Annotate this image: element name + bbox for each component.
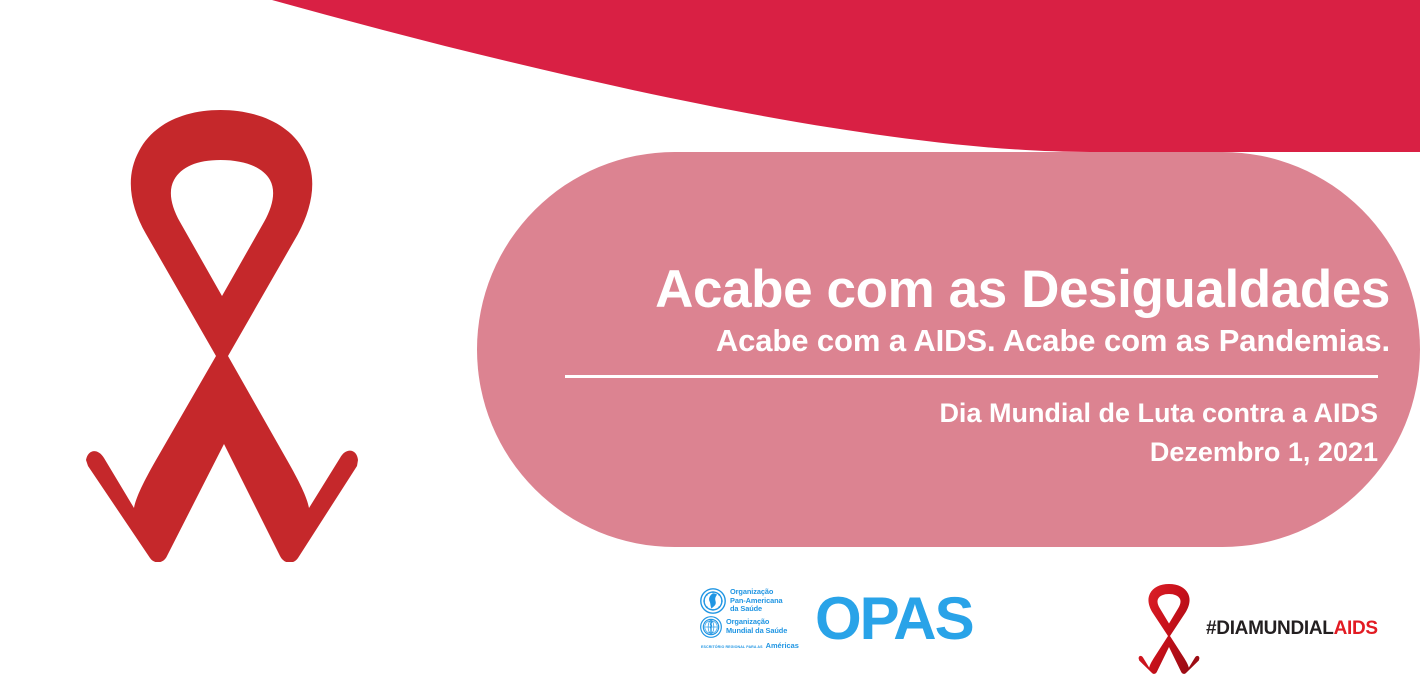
hashtag-text-red: AIDS [1334,618,1378,639]
event-date-text: Dezembro 1, 2021 [500,435,1390,470]
opas-americas-row: ESCRITÓRIO REGIONAL PARA AS Américas [701,641,806,650]
who-emblem-line-2: Mundial da Saúde [726,627,787,636]
ribbon-path [86,110,358,562]
hashtag-ribbon-path [1139,584,1200,674]
paho-globe-seal-icon [700,588,726,614]
opas-americas-label: Américas [766,641,799,650]
world-aids-day-banner: Acabe com as Desigualdades Acabe com a A… [0,0,1420,684]
page-title: Acabe com as Desigualdades [500,262,1390,317]
event-name-text: Dia Mundial de Luta contra a AIDS [500,396,1390,431]
opas-americas-prefix: ESCRITÓRIO REGIONAL PARA AS [701,645,763,649]
aids-awareness-ribbon-small-icon [1138,580,1200,676]
paho-emblem-row: Organização Pan-Americana da Saúde [700,588,806,614]
opas-emblems: Organização Pan-Americana da Saúde [700,588,806,650]
opas-wordmark: OPAS [815,589,973,649]
paho-emblem-label: Organização Pan-Americana da Saúde [730,588,783,614]
footer-logos: Organização Pan-Americana da Saúde [0,572,1420,684]
aids-awareness-ribbon-icon [58,88,383,562]
who-emblem-row: Organização Mundial da Saúde [700,616,806,638]
divider-rule [565,375,1378,378]
hashtag-text: #DIAMUNDIALAIDS [1206,619,1378,638]
red-swoosh-shape [272,0,1420,152]
opas-logo: Organização Pan-Americana da Saúde [700,588,973,650]
page-subtitle: Acabe com a AIDS. Acabe com as Pandemias… [500,322,1390,361]
paho-emblem-line-3: da Saúde [730,605,783,614]
hashtag-badge: #DIAMUNDIALAIDS [1138,572,1408,684]
who-emblem-label: Organização Mundial da Saúde [726,618,787,635]
hashtag-text-dark: #DIAMUNDIAL [1206,618,1334,639]
who-rod-of-asclepius-seal-icon [700,616,722,638]
headline-block: Acabe com as Desigualdades Acabe com a A… [500,262,1390,470]
